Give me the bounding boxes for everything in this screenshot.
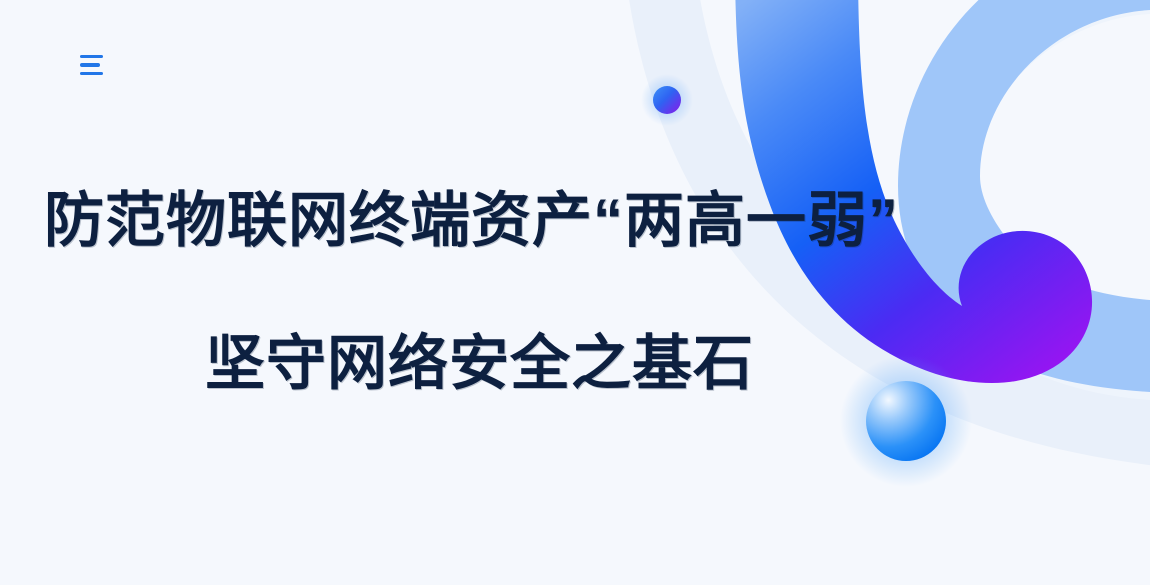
- hamburger-bar-top: [80, 55, 103, 59]
- slide-title-line-1: 防范物联网终端资产“两高一弱”: [0, 186, 900, 257]
- slide-title-line-2: 坚守网络安全之基石: [0, 329, 900, 400]
- pale-grey-arc-inner: [900, 0, 1150, 400]
- hamburger-bar-bottom: [80, 72, 103, 76]
- slide-canvas: 防范物联网终端资产“两高一弱” 坚守网络安全之基石: [0, 0, 1150, 585]
- hamburger-bar-middle: [80, 63, 100, 67]
- light-blue-arc: [898, 0, 1150, 392]
- hamburger-menu-icon[interactable]: [80, 48, 116, 82]
- slide-title: 防范物联网终端资产“两高一弱” 坚守网络安全之基石: [0, 186, 900, 400]
- small-sphere: [641, 74, 693, 126]
